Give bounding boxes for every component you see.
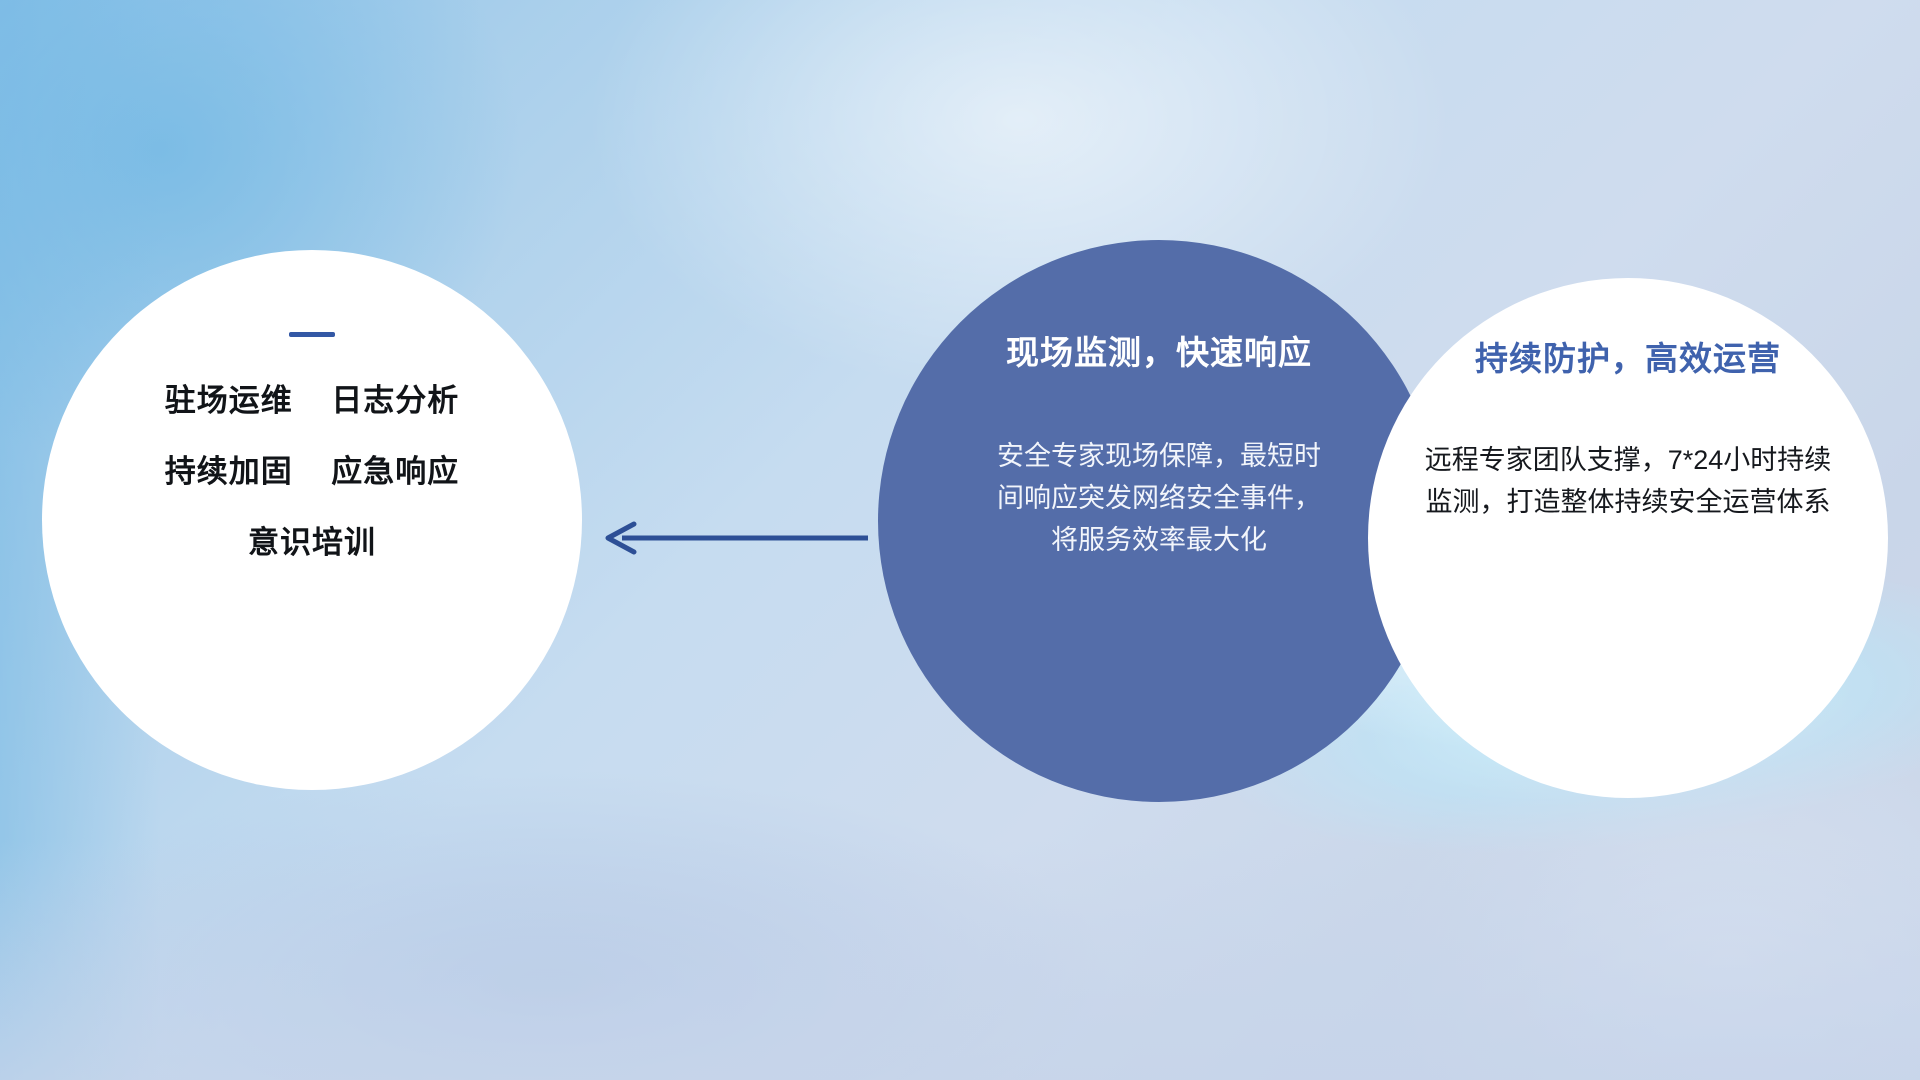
- left-circle-line: 持续加固 应急响应: [42, 456, 582, 487]
- background-vignette: [0, 840, 1920, 1080]
- left-circle-card[interactable]: 驻场运维 日志分析 持续加固 应急响应 意识培训: [42, 250, 582, 790]
- right-circle-body: 远程专家团队支撑，7*24小时持续监测，打造整体持续安全运营体系: [1413, 440, 1843, 524]
- arrow-left-icon: [600, 518, 870, 558]
- left-circle-line: 驻场运维 日志分析: [42, 385, 582, 416]
- right-circle-title: 持续防护，高效运营: [1475, 332, 1781, 380]
- right-circle-card[interactable]: 持续防护，高效运营 远程专家团队支撑，7*24小时持续监测，打造整体持续安全运营…: [1368, 278, 1888, 798]
- slide-canvas: 现场监测，快速响应 安全专家现场保障，最短时间响应突发网络安全事件，将服务效率最…: [0, 0, 1920, 1080]
- left-circle-label-group: 驻场运维 日志分析 持续加固 应急响应 意识培训: [42, 385, 582, 558]
- middle-circle-body: 安全专家现场保障，最短时间响应突发网络安全事件，将服务效率最大化: [989, 436, 1329, 562]
- middle-circle-title: 现场监测，快速响应: [1006, 326, 1312, 374]
- dash-decorator-icon: [289, 332, 335, 337]
- middle-circle-card[interactable]: 现场监测，快速响应 安全专家现场保障，最短时间响应突发网络安全事件，将服务效率最…: [878, 240, 1440, 802]
- left-circle-line: 意识培训: [42, 527, 582, 558]
- arrow-left-glyph: [600, 518, 870, 558]
